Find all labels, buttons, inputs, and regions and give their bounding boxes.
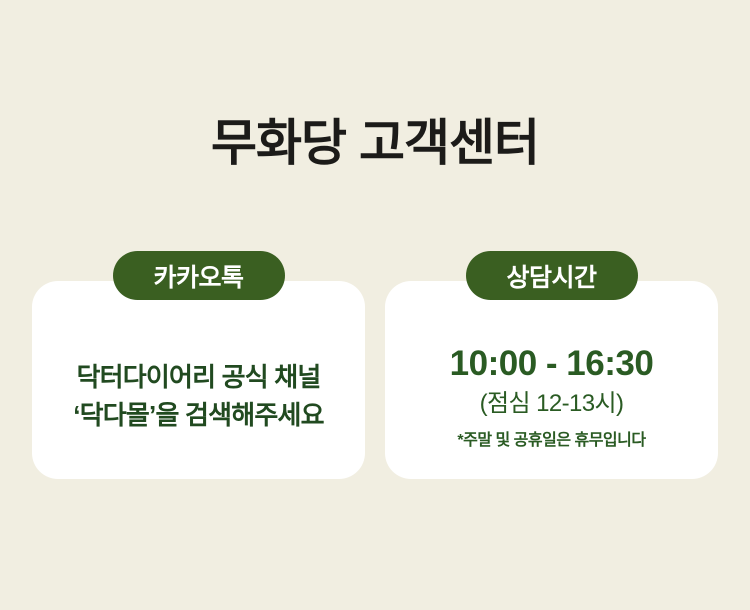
kakao-card: 카카오톡 닥터다이어리 공식 채널 ‘닥다몰’을 검색해주세요: [32, 281, 365, 479]
lunch-break-note: (점심 12-13시): [480, 390, 624, 419]
hours-range: 10:00 - 16:30: [450, 344, 654, 384]
kakao-channel-line: 닥터다이어리 공식 채널: [76, 359, 320, 397]
kakao-badge: 카카오톡: [113, 251, 285, 300]
hours-card: 상담시간 10:00 - 16:30 (점심 12-13시) *주말 및 공휴일…: [385, 281, 718, 479]
customer-center-poster: 무화당 고객센터 카카오톡 닥터다이어리 공식 채널 ‘닥다몰’을 검색해주세요…: [0, 0, 750, 610]
holiday-note: *주말 및 공휴일은 휴무입니다: [457, 431, 645, 450]
hours-card-body: 10:00 - 16:30 (점심 12-13시) *주말 및 공휴일은 휴무입…: [385, 315, 718, 479]
kakao-card-body: 닥터다이어리 공식 채널 ‘닥다몰’을 검색해주세요: [32, 315, 365, 479]
hours-badge: 상담시간: [466, 251, 638, 300]
page-title: 무화당 고객센터: [0, 112, 750, 175]
kakao-search-line: ‘닥다몰’을 검색해주세요: [73, 397, 323, 435]
info-cards-row: 카카오톡 닥터다이어리 공식 채널 ‘닥다몰’을 검색해주세요 상담시간 10:…: [32, 281, 718, 479]
